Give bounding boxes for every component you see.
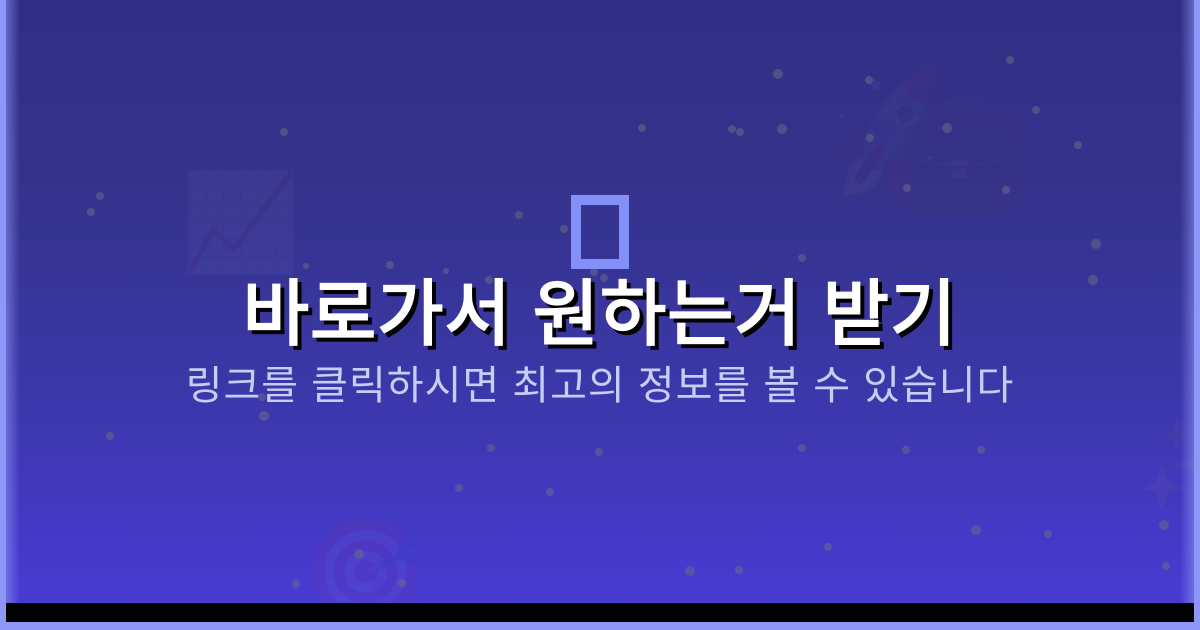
page-subtitle: 링크를 클릭하시면 최고의 정보를 볼 수 있습니다: [186, 364, 1015, 408]
gradient-stage: 🚀 💼 🎯 ✨ 📈 바로가서 원하는거 받기 링크를 클릭하시면 최고의 정보를…: [6, 0, 1194, 622]
page-title: 바로가서 원하는거 받기: [243, 277, 957, 353]
thumbnail-canvas: 🚀 💼 🎯 ✨ 📈 바로가서 원하는거 받기 링크를 클릭하시면 최고의 정보를…: [0, 0, 1200, 630]
banner-content: 바로가서 원하는거 받기 링크를 클릭하시면 최고의 정보를 볼 수 있습니다: [6, 0, 1194, 603]
missing-glyph-tofu-icon: [571, 195, 629, 269]
bottom-black-bar: [6, 603, 1194, 622]
